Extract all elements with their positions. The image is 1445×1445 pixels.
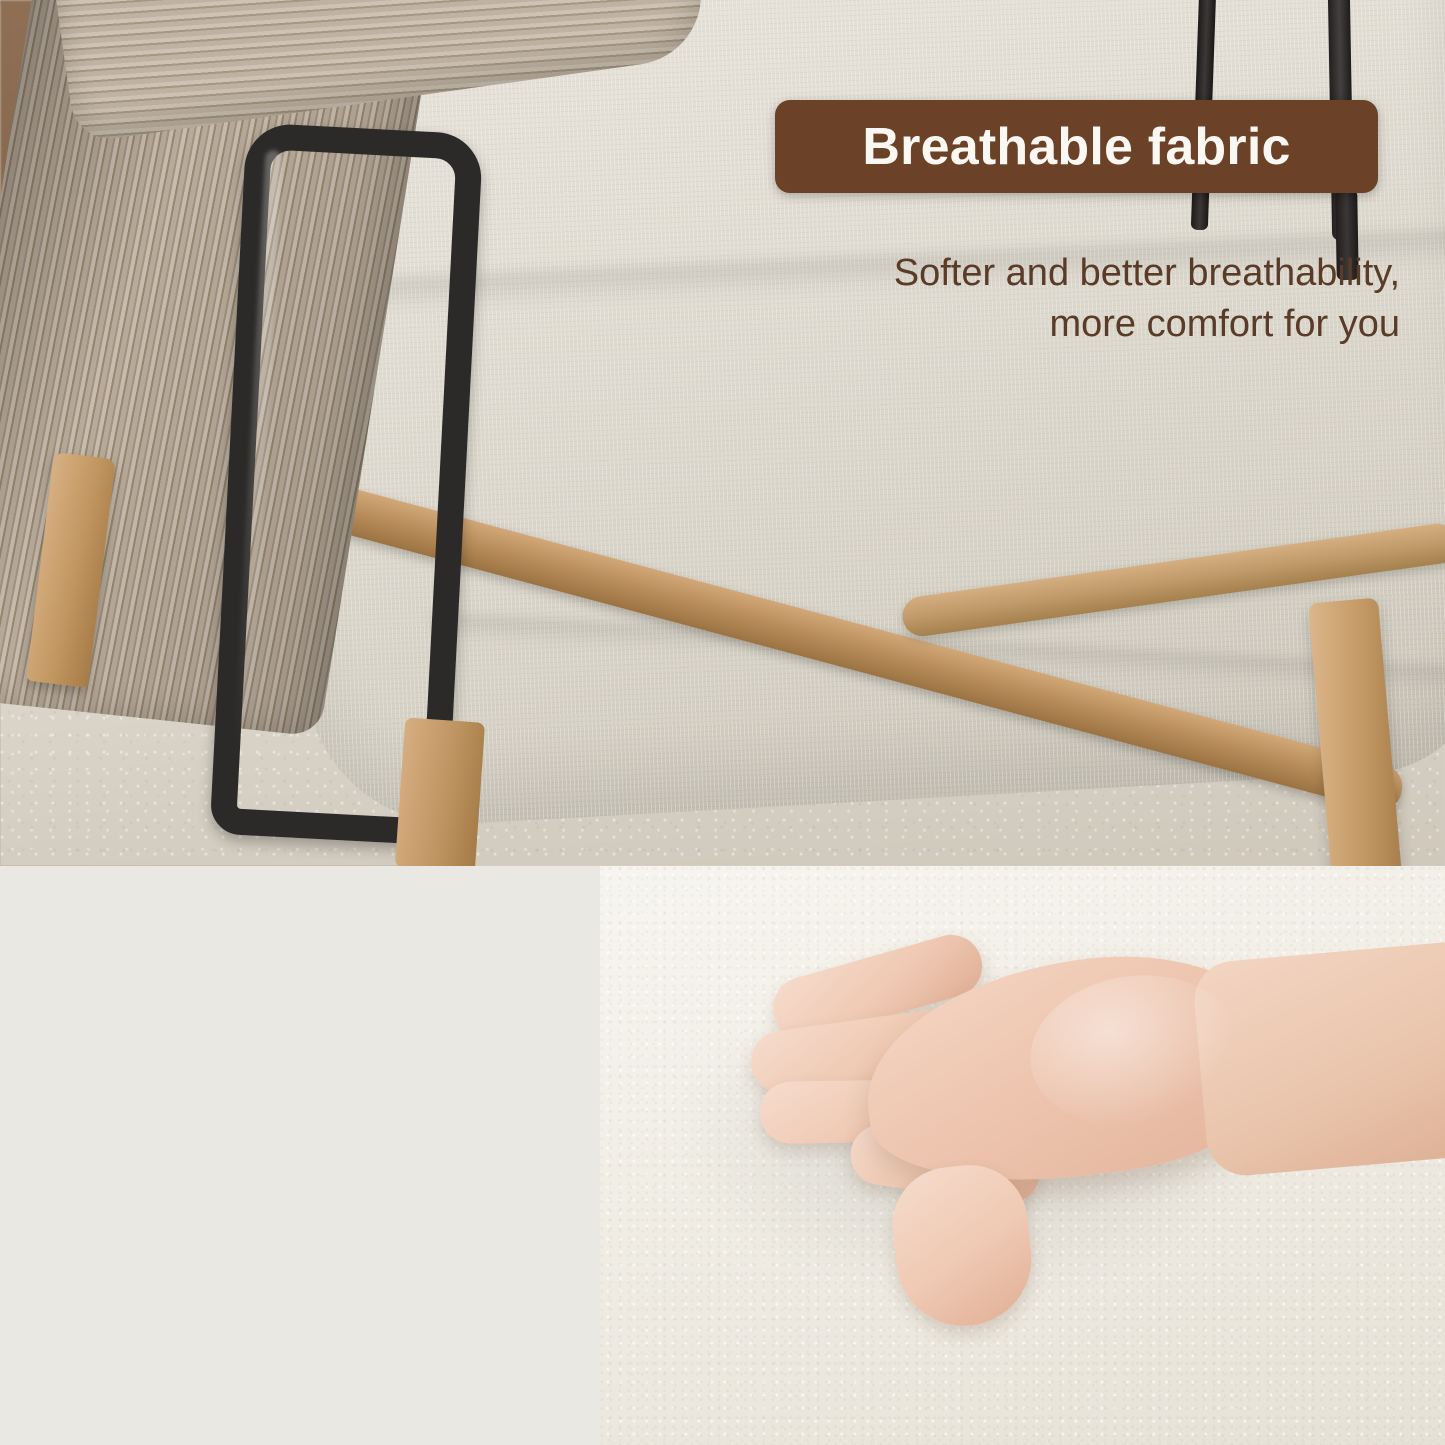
feature-badge-label: Breathable fabric <box>862 117 1290 177</box>
hand-pressing-foam <box>600 866 1445 1445</box>
product-infographic-canvas: Breathable fabric Softer and better brea… <box>0 0 1445 1445</box>
wood-leg-middle <box>395 717 485 866</box>
feature-subtitle-breathable-fabric: Softer and better breathability, more co… <box>700 248 1400 351</box>
top-photo-panel: Breathable fabric Softer and better brea… <box>0 0 1445 866</box>
feature-badge-breathable-fabric: Breathable fabric <box>775 100 1378 193</box>
subtitle-line-2: more comfort for you <box>700 299 1400 350</box>
bottom-photo-panel: High density rebound sponge Provides muc… <box>0 866 1445 1445</box>
subtitle-line-1: Softer and better breathability, <box>700 248 1400 299</box>
